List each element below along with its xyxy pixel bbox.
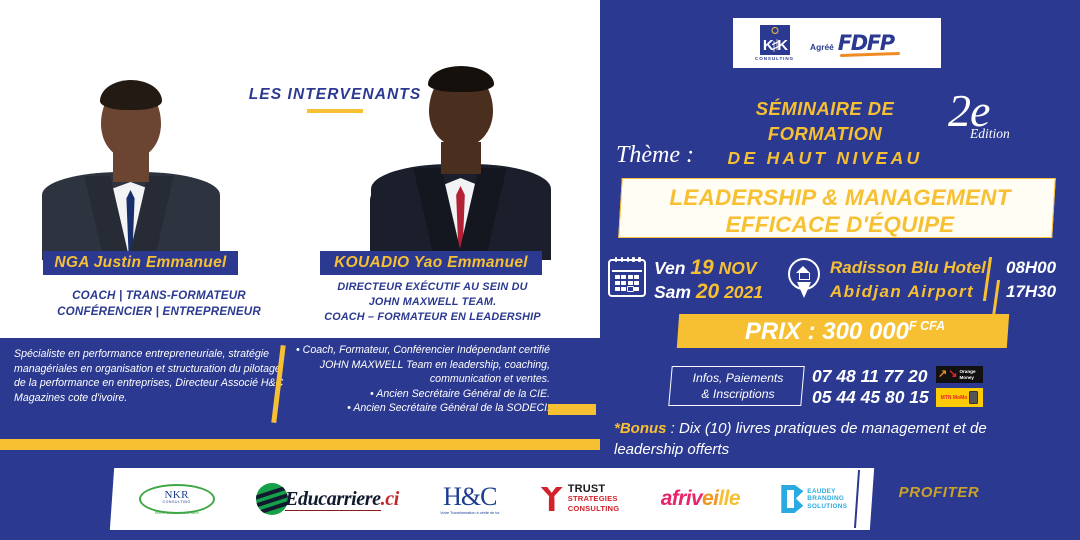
contact-phones[interactable]: 07 48 11 77 20 05 44 45 80 15	[812, 366, 929, 408]
organizer-logos: K♯K CONSULTING Agréé FDFP	[733, 18, 941, 68]
kk-logo-mark: K♯K	[760, 25, 790, 55]
speaker-1-portrait	[38, 48, 223, 260]
location-pin-icon	[788, 258, 822, 300]
price-currency: F CFA	[909, 319, 945, 333]
speakers-panel: LES INTERVENANTS NGA Justin Emmanuel KOU…	[0, 0, 600, 540]
day-number-1: 19	[690, 256, 713, 279]
kk-consulting-logo: K♯K CONSULTING	[755, 25, 794, 62]
contact-label-line2: & Inscriptions	[676, 386, 800, 402]
speaker-2-bio: • Coach, Formateur, Conférencier Indépen…	[288, 343, 550, 416]
educarriere-wordmark: Educarriere.ci	[285, 488, 399, 511]
partners-list: NKR CONSULTING Révéler & Valoriser votre…	[118, 468, 868, 530]
hc-sub: Votre Transformation à vérité de toi	[440, 511, 499, 515]
event-venue: Radisson Blu Hotel Abidjan Airport	[830, 256, 986, 304]
speaker-1-roles: COACH | TRANS-FORMATEUR CONFÉRENCIER | E…	[34, 288, 284, 320]
theme-label: Thème :	[616, 142, 694, 169]
eaudey-line1: EAUDEY	[807, 488, 847, 496]
time-start: 08H00	[1006, 256, 1056, 280]
calendar-rings	[615, 257, 641, 262]
event-date-line2: Sam 20 2021	[654, 280, 763, 304]
kk-logo-word: CONSULTING	[755, 56, 794, 61]
nkr-sub: Révéler & Valoriser votre talent	[139, 511, 215, 515]
hc-wordmark: H&C	[440, 484, 499, 510]
speaker-1-nameplate: NGA Justin Emmanuel	[43, 251, 238, 275]
bonus-note: *Bonus : Dix (10) livres pratiques de ma…	[614, 418, 1034, 460]
bottom-navy-strip	[0, 530, 1080, 540]
fdfp-wordmark-wrap: FDFP	[838, 31, 894, 55]
price-label: PRIX : 300 000	[745, 318, 909, 345]
eaudey-line2: BRANDING	[807, 495, 847, 503]
gold-hook-accent	[548, 404, 596, 415]
speaker-2-nameplate: KOUADIO Yao Emmanuel	[320, 251, 542, 275]
price-text: PRIX : 300 000F CFA	[686, 318, 1004, 346]
year-label: 2021	[724, 282, 763, 302]
speakers-heading-underline	[307, 109, 363, 113]
orange-arrow-down-icon: ↘	[948, 369, 957, 380]
partner-logo-trust: TRUST STRATEGIES CONSULTING	[541, 468, 620, 530]
educarriere-globe-icon	[256, 483, 288, 515]
educarriere-suffix: .ci	[381, 488, 399, 510]
partner-logo-eaudey: EAUDEY BRANDING SOLUTIONS	[781, 468, 847, 530]
eaudey-line3: SOLUTIONS	[807, 503, 847, 511]
calendar-icon	[608, 259, 646, 297]
bonus-label: *Bonus	[614, 420, 667, 437]
seminar-title: SÉMINAIRE DE FORMATION DE HAUT NIVEAU	[700, 96, 950, 171]
orange-money-label: Orange Money	[959, 369, 983, 380]
mtn-momo-icon: MTN MoMo	[936, 388, 983, 407]
event-times: 08H00 17H30	[1006, 256, 1056, 304]
speakers-heading-text: LES INTERVENANTS	[220, 86, 450, 104]
phone-number-2[interactable]: 05 44 45 80 15	[812, 387, 929, 408]
trust-line3: CONSULTING	[568, 504, 620, 514]
calendar-grid	[614, 274, 640, 292]
phone-number-1[interactable]: 07 48 11 77 20	[812, 366, 929, 387]
speakers-heading: LES INTERVENANTS	[220, 86, 450, 113]
month-label: NOV	[719, 258, 757, 278]
afriveille-wordmark: afriveille	[661, 487, 740, 511]
seminar-title-line2: DE HAUT NIVEAU	[700, 146, 950, 171]
seminar-title-line1: SÉMINAIRE DE FORMATION	[700, 96, 950, 146]
house-icon	[796, 266, 811, 279]
partner-logo-afriveille: afriveille	[661, 468, 740, 530]
weekday-2: Sam	[654, 282, 691, 302]
partner-logo-educarriere: Educarriere.ci	[256, 468, 399, 530]
trust-mark-icon	[541, 487, 563, 511]
event-date-line1: Ven 19 NOV	[654, 256, 763, 280]
event-poster: LES INTERVENANTS NGA Justin Emmanuel KOU…	[0, 0, 1080, 540]
contact-label-line1: Infos, Paiements	[676, 370, 800, 386]
trust-line2: STRATEGIES	[568, 494, 620, 504]
trust-name: TRUST	[568, 485, 620, 495]
theme-line2: EFFICACE D'ÉQUIPE	[628, 211, 1052, 238]
lightbulb-icon	[771, 27, 778, 34]
orange-money-icon: ↗ ↘ Orange Money	[936, 366, 983, 383]
partner-logo-nkr: NKR CONSULTING Révéler & Valoriser votre…	[139, 468, 215, 530]
venue-line1: Radisson Blu Hotel	[830, 256, 986, 280]
agree-label: Agréé	[810, 42, 834, 52]
time-end: 17H30	[1006, 280, 1056, 304]
orange-arrow-up-icon: ↗	[938, 369, 947, 380]
nkr-tagline: CONSULTING	[139, 500, 215, 504]
eaudey-mark-icon	[781, 485, 803, 513]
weekday-1: Ven	[654, 258, 685, 278]
theme-text: LEADERSHIP & MANAGEMENT EFFICACE D'ÉQUIP…	[628, 184, 1052, 238]
speaker-2-portrait	[368, 36, 553, 260]
gold-separator-bar	[0, 439, 600, 450]
bonus-text: : Dix (10) livres pratiques de managemen…	[614, 420, 987, 458]
contact-label: Infos, Paiements & Inscriptions	[676, 370, 800, 402]
speaker-1-bio: Spécialiste en performance entrepreneuri…	[14, 347, 284, 405]
educarriere-name: Educarriere	[285, 488, 381, 511]
phone-icon	[969, 391, 978, 404]
edition-badge: 2e Edition	[948, 92, 1022, 150]
speaker-2-roles: DIRECTEUR EXÉCUTIF AU SEIN DU JOHN MAXWE…	[300, 280, 565, 325]
kk-logo-letters: K♯K	[760, 37, 790, 54]
partner-logo-hc: H&C Votre Transformation à vérité de toi	[440, 468, 499, 530]
event-dates: Ven 19 NOV Sam 20 2021	[654, 256, 763, 304]
theme-line1: LEADERSHIP & MANAGEMENT	[628, 184, 1052, 211]
fdfp-logo: Agréé FDFP	[810, 31, 894, 55]
venue-line2: Abidjan Airport	[830, 280, 986, 304]
day-number-2: 20	[696, 280, 719, 303]
edition-word: Edition	[970, 126, 1010, 142]
fdfp-wordmark: FDFP	[838, 31, 894, 55]
mtn-momo-label: MTN MoMo	[941, 395, 968, 401]
profiter-button-label[interactable]: PROFITER	[880, 484, 998, 501]
